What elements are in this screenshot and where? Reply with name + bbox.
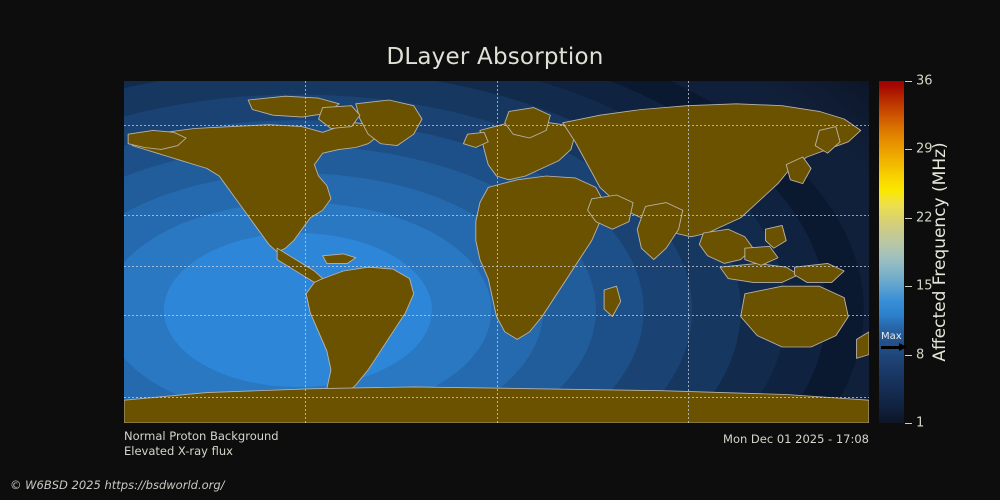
max-arrow-icon (881, 343, 907, 352)
land-philippines (766, 225, 787, 248)
land-indonesia (720, 263, 799, 282)
land-australia (741, 286, 849, 347)
colorbar-tick-8 (905, 355, 912, 356)
land-caribbean (323, 254, 356, 264)
xray-status-text: Elevated X-ray flux (124, 444, 279, 459)
world-map[interactable] (124, 81, 869, 423)
colorbar-tick-1 (905, 423, 912, 424)
land-madagascar (604, 286, 621, 316)
timestamp: Mon Dec 01 2025 - 17:08 (723, 432, 869, 446)
colorbar-tick-29 (905, 149, 912, 150)
footer-credit: © W6BSD 2025 https://bsdworld.org/ (10, 478, 225, 492)
proton-status-text: Normal Proton Background (124, 429, 279, 444)
land-borneo (745, 246, 778, 265)
colorbar-tick-15 (905, 286, 912, 287)
colorbar-tick-36 (905, 81, 912, 82)
land-india (637, 203, 683, 260)
colorbar[interactable]: 36 29 22 15 8 1 Max (879, 81, 904, 423)
colorbar-tick-22 (905, 218, 912, 219)
land-central-america (277, 248, 323, 282)
land-new-zealand (857, 332, 869, 359)
land-antarctica (124, 387, 869, 423)
landmass-layer (124, 81, 869, 423)
land-south-america (306, 267, 414, 400)
land-new-guinea (795, 263, 845, 282)
colorbar-gradient (879, 81, 904, 423)
colorbar-axis-label: Affected Frequency (MHz) (930, 81, 956, 423)
status-notes: Normal Proton Background Elevated X-ray … (124, 429, 279, 459)
page-title: DLayer Absorption (0, 44, 990, 70)
max-marker: Max (881, 331, 921, 352)
colorbar-ticklabel-1: 1 (916, 416, 924, 431)
coastline-svg (124, 81, 869, 423)
land-africa (476, 176, 604, 339)
max-marker-label: Max (881, 331, 921, 342)
